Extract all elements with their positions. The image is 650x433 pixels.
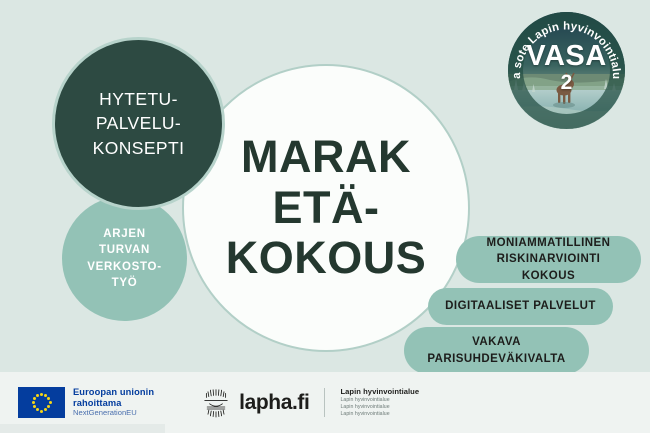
hytetu-palvelukonsepti-label: HYTETU- PALVELU- KONSEPTI	[93, 87, 185, 159]
arjen-turvan-verkostotyo-circle: ARJEN TURVAN VERKOSTO- TYÖ	[62, 196, 187, 321]
pill-label: DIGITAALISET PALVELUT	[445, 298, 596, 315]
marak-etakokous-label: MARAK ETÄ- KOKOUS	[226, 132, 427, 283]
marak-etakokous-circle: MARAK ETÄ- KOKOUS	[182, 64, 470, 352]
vasa-badge-title: VASA	[508, 42, 625, 71]
lapha-wordmark: lapha.fi	[239, 391, 309, 415]
footer-accent-strip	[0, 424, 165, 433]
lapha-org-main: Lapin hyvinvointialue	[340, 387, 419, 397]
lapha-org-sub-2: Lapin hyvinvointialue	[340, 404, 419, 411]
hytetu-palvelukonsepti-circle: HYTETU- PALVELU- KONSEPTI	[55, 40, 222, 207]
pill-digitaaliset-palvelut: DIGITAALISET PALVELUT	[428, 288, 613, 325]
eu-line-3: NextGenerationEU	[73, 409, 154, 418]
pill-label: VAKAVA PARISUHDEVÄKIVALTA	[427, 334, 565, 367]
pill-label: MONIAMMATILLINEN RISKINARVIOINTI KOKOUS	[470, 235, 627, 285]
lapha-logo: lapha.fi Lapin hyvinvointialue Lapin hyv…	[200, 387, 419, 419]
pill-moniammatillinen-riskinarviointi-kokous: MONIAMMATILLINEN RISKINARVIOINTI KOKOUS	[456, 236, 641, 283]
eu-funding-logo: Euroopan unionin rahoittama NextGenerati…	[18, 387, 154, 418]
lapha-divider	[324, 388, 325, 417]
poster-canvas: MARAK ETÄ- KOKOUS HYTETU- PALVELU- KONSE…	[0, 0, 650, 433]
pill-vakava-parisuhdevakivalta: VAKAVA PARISUHDEVÄKIVALTA	[404, 327, 589, 374]
vasa-badge-subtitle: 2	[508, 72, 625, 93]
eu-line-1: Euroopan unionin	[73, 387, 154, 398]
lapha-org-sub-1: Lapin hyvinvointialue	[340, 397, 419, 404]
eu-line-2: rahoittama	[73, 398, 154, 409]
arjen-turvan-verkostotyo-label: ARJEN TURVAN VERKOSTO- TYÖ	[87, 226, 161, 291]
lapha-sun-icon	[200, 387, 232, 419]
lapha-org-sub-3: Lapin hyvinvointialue	[340, 411, 419, 418]
eu-flag-icon	[18, 387, 65, 418]
footer-bar: Euroopan unionin rahoittama NextGenerati…	[0, 372, 650, 433]
vasa-badge: vahva sote Lapin hyvinvointialueelle VAS…	[508, 12, 625, 129]
